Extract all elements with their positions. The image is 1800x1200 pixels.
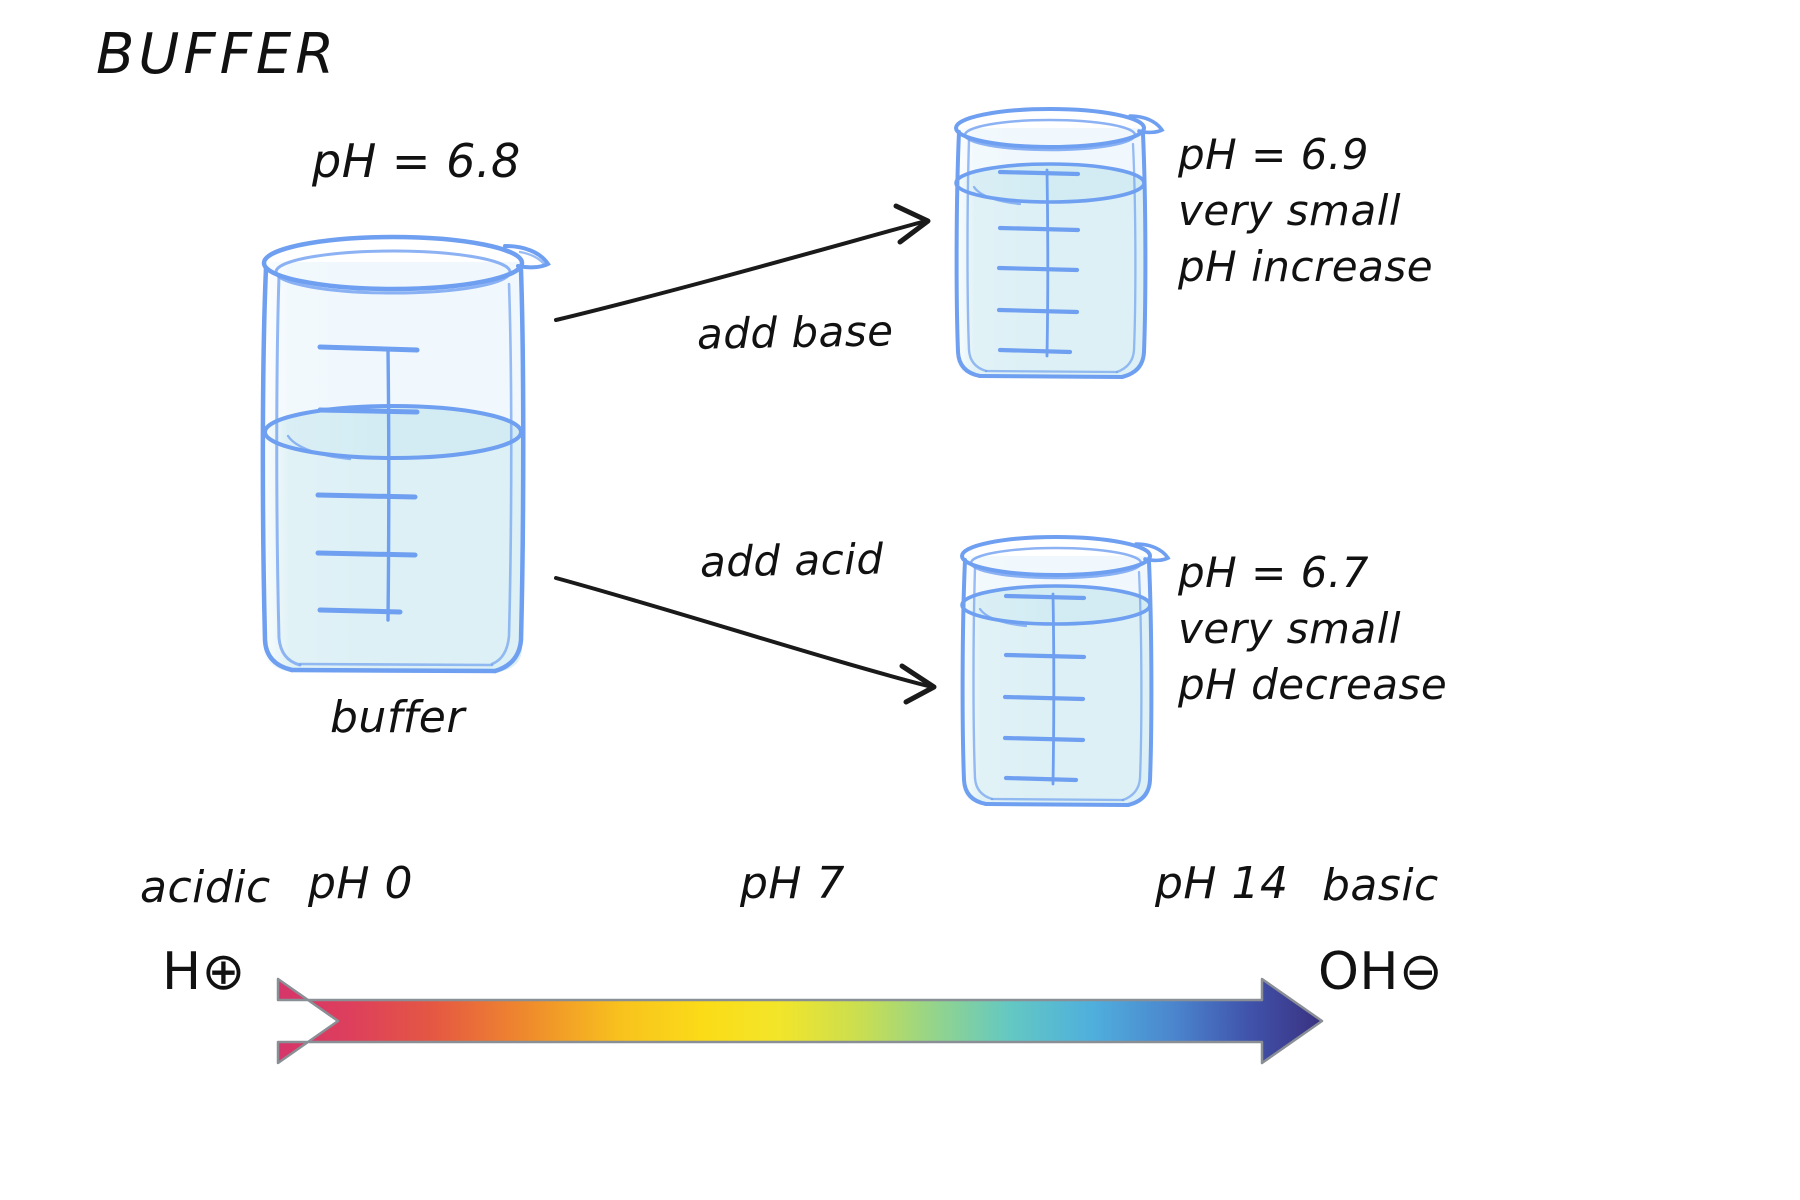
diagram-canvas: BUFFER bbox=[0, 0, 1800, 1200]
ph-gradient-arrow bbox=[278, 979, 1322, 1063]
ph-scale-arrow-layer bbox=[0, 0, 1800, 1200]
